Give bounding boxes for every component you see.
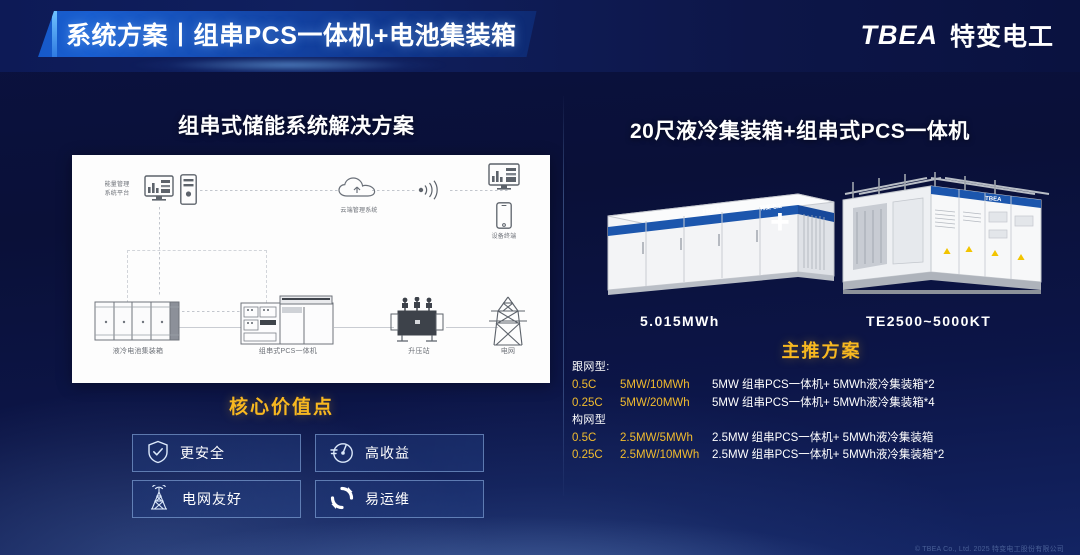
spec-row: 0.25C 2.5MW/10MWh 2.5MW 组串PCS一体机+ 5MWh液冷… <box>572 447 1072 465</box>
diagram-link-battery-pcs <box>180 327 242 328</box>
product-left-caption: 5.015MWh <box>640 313 720 329</box>
terminal-monitor-icon <box>488 163 520 196</box>
core-value-title: 核心价值点 <box>0 392 563 419</box>
diagram-label-grid: 电网 <box>490 347 526 357</box>
spec-capacity: 5MW/10MWh <box>620 377 712 395</box>
power-grid-tower-icon <box>487 295 529 352</box>
spec-description: 2.5MW 组串PCS一体机+ 5MWh液冷集装箱 <box>712 430 933 448</box>
diagram-label-terminal: 设备终端 <box>476 233 532 242</box>
diagram-label-substation: 升压站 <box>394 347 444 357</box>
feature-label: 更安全 <box>180 443 225 463</box>
spec-c-rate: 0.5C <box>572 430 620 448</box>
diagram-link-ems-cloud <box>200 190 340 191</box>
product-right-caption: TE2500~5000KT <box>866 313 991 329</box>
spec-group-grid-forming: 构网型 <box>572 413 1072 429</box>
spec-capacity: 2.5MW/5MWh <box>620 430 712 448</box>
page-title: 系统方案丨组串PCS一体机+电池集装箱 <box>66 16 517 52</box>
feature-card-safety[interactable]: 更安全 <box>132 434 301 472</box>
spec-group-grid-following: 跟网型: <box>572 360 1072 376</box>
diagram-label-battery-container: 液冷电池集装箱 <box>88 347 188 357</box>
product-photos: TBEA 特变电工 TBEA <box>580 158 1056 288</box>
feature-label: 高收益 <box>365 443 410 463</box>
mobile-phone-icon <box>496 202 512 234</box>
right-panel-title: 20尺液冷集装箱+组串式PCS一体机 <box>630 115 970 145</box>
pcs-unit-photo: TBEA <box>835 164 1055 311</box>
spec-c-rate: 0.5C <box>572 377 620 395</box>
battery-container-photo: TBEA 特变电工 <box>602 180 842 307</box>
plus-separator: + <box>770 205 790 239</box>
recommended-plan-list: 跟网型: 0.5C 5MW/10MWh 5MW 组串PCS一体机+ 5MWh液冷… <box>572 360 1072 465</box>
pcs-unit-icon <box>240 295 334 350</box>
battery-container-icon <box>94 300 180 347</box>
speedometer-icon <box>330 440 354 467</box>
core-value-features: 更安全 高收益 <box>132 434 484 518</box>
page-title-ribbon: 系统方案丨组串PCS一体机+电池集装箱 <box>38 11 537 57</box>
shield-check-icon <box>147 440 169 467</box>
diagram-label-pcs: 组串式PCS一体机 <box>242 347 334 357</box>
panel-divider <box>563 96 564 496</box>
brand-latin-text: TBEA <box>860 20 938 51</box>
spec-capacity: 5MW/20MWh <box>620 395 712 413</box>
spec-description: 2.5MW 组串PCS一体机+ 5MWh液冷集装箱*2 <box>712 447 944 465</box>
spec-description: 5MW 组串PCS一体机+ 5MWh液冷集装箱*4 <box>712 395 935 413</box>
spec-row: 0.25C 5MW/20MWh 5MW 组串PCS一体机+ 5MWh液冷集装箱*… <box>572 395 1072 413</box>
spec-c-rate: 0.25C <box>572 395 620 413</box>
cloud-icon <box>338 177 376 206</box>
feature-card-profit[interactable]: 高收益 <box>315 434 484 472</box>
system-architecture-diagram: 能量管理 系统平台 云端管理系统 <box>72 155 550 383</box>
svg-text:TBEA: TBEA <box>985 196 1002 203</box>
spec-capacity: 2.5MW/10MWh <box>620 447 712 465</box>
feature-card-easy-om[interactable]: 易运维 <box>315 480 484 518</box>
spec-row: 0.5C 2.5MW/5MWh 2.5MW 组串PCS一体机+ 5MWh液冷集装… <box>572 430 1072 448</box>
left-panel-title: 组串式储能系统解决方案 <box>178 110 415 140</box>
spec-row: 0.5C 5MW/10MWh 5MW 组串PCS一体机+ 5MWh液冷集装箱*2 <box>572 377 1072 395</box>
diagram-label-ems: 能量管理 系统平台 <box>94 181 140 198</box>
wireless-signal-icon <box>418 180 444 205</box>
diagram-link-battery-pcs-signal <box>182 311 240 312</box>
ribbon-accent-bar <box>52 11 57 57</box>
spec-description: 5MW 组串PCS一体机+ 5MWh液冷集装箱*2 <box>712 377 935 395</box>
footer-copyright: © TBEA Co., Ltd. 2025 特变电工股份有限公司 <box>915 544 1064 554</box>
brand-chinese-text: 特变电工 <box>950 17 1054 53</box>
monitor-icon <box>144 175 174 208</box>
feature-card-grid-friendly[interactable]: 电网友好 <box>132 480 301 518</box>
page-header: 系统方案丨组串PCS一体机+电池集装箱 TBEA 特变电工 <box>0 0 1080 72</box>
substation-transformer-icon <box>388 297 446 350</box>
diagram-label-cloud: 云端管理系统 <box>328 207 390 216</box>
transmission-tower-icon <box>147 485 171 514</box>
spec-c-rate: 0.25C <box>572 447 620 465</box>
feature-label: 电网友好 <box>182 489 242 509</box>
server-icon <box>180 174 197 210</box>
feature-label: 易运维 <box>365 489 410 509</box>
diagram-link-cloud-wifi <box>372 190 417 191</box>
diagram-link-pcs-substation <box>334 327 394 328</box>
refresh-cycle-icon <box>330 486 354 513</box>
brand-logo: TBEA 特变电工 <box>860 17 1054 53</box>
